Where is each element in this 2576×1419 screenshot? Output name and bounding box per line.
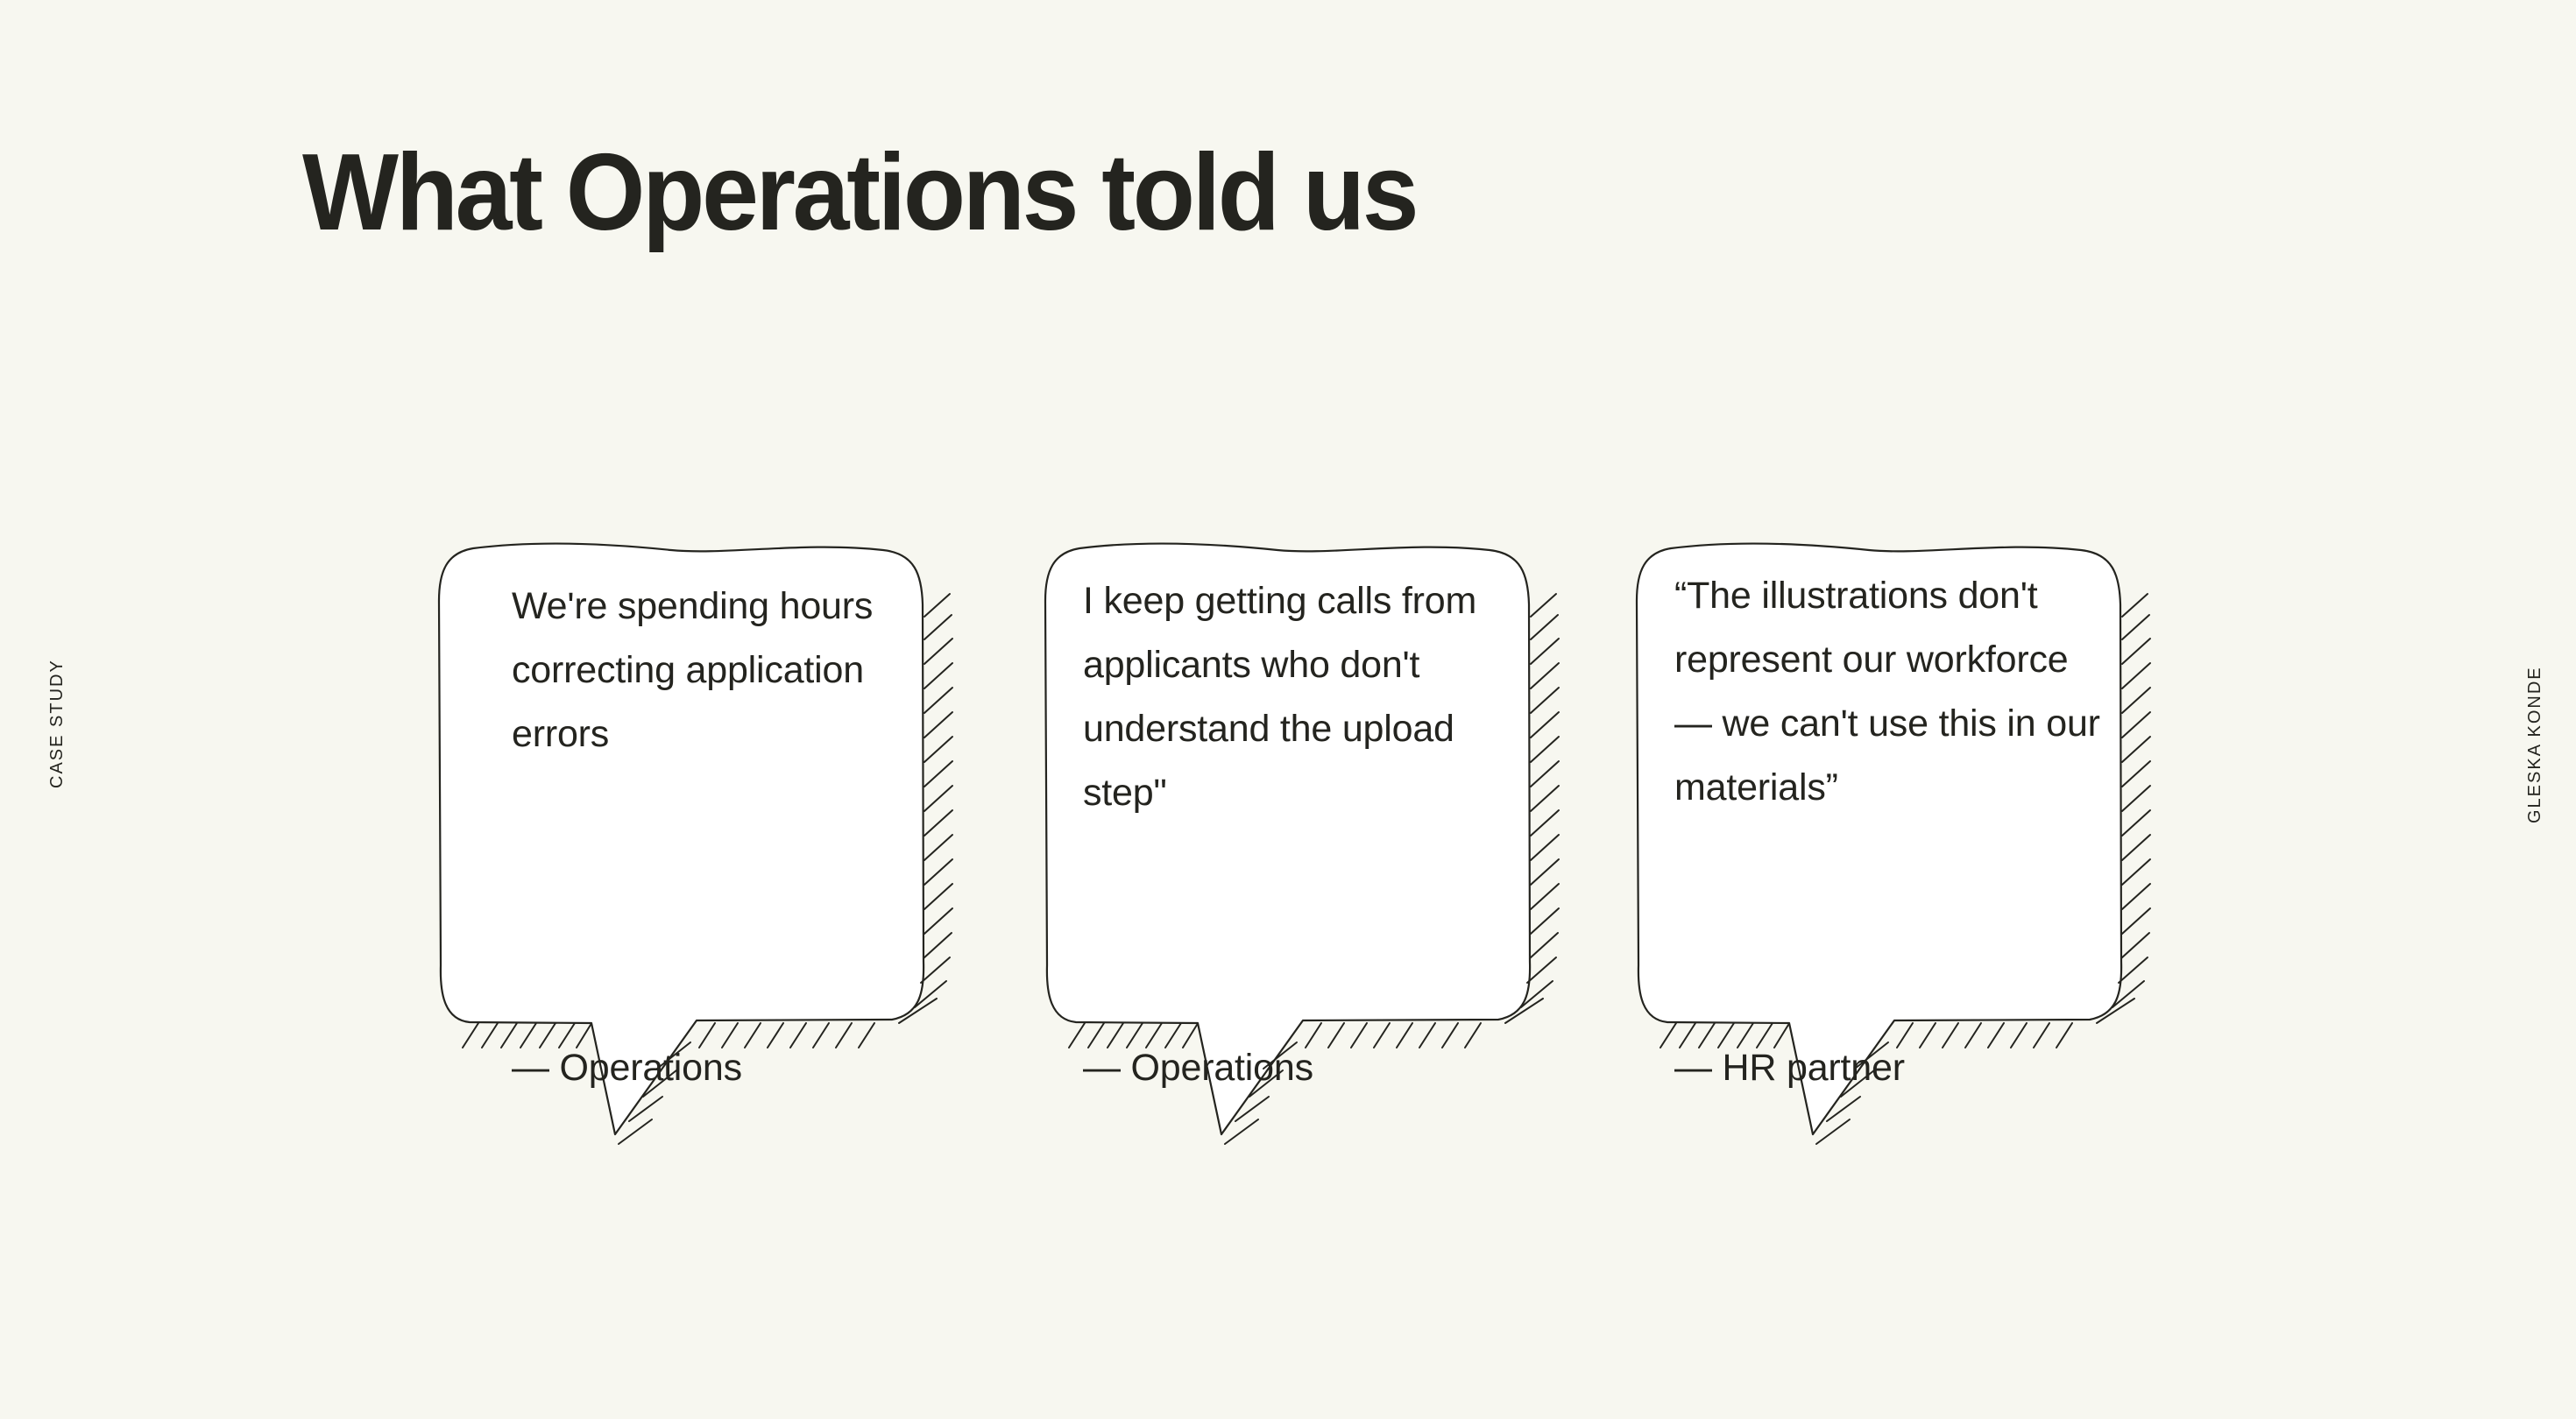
page-title: What Operations told us [302, 138, 1416, 247]
quote-body-3: “The illustrations don't represent our w… [1674, 564, 2102, 820]
quote-body-2: I keep getting calls from applicants who… [1083, 569, 1507, 825]
left-vertical-label: CASE STUDY [47, 659, 67, 788]
quote-attribution-2: — Operations [1083, 1047, 1313, 1090]
quote-body-1: We're spending hours correcting applicat… [512, 575, 878, 766]
quote-attribution-1: — Operations [512, 1047, 742, 1090]
quote-text-wrap-2: I keep getting calls from applicants who… [1043, 536, 1533, 1149]
quote-text-wrap-3: “The illustrations don't represent our w… [1634, 536, 2125, 1149]
quote-attribution-3: — HR partner [1674, 1047, 1905, 1090]
quote-text-wrap-1: We're spending hours correcting applicat… [436, 536, 927, 1149]
right-vertical-label: GLESKA KONDE [2525, 666, 2545, 823]
quote-bubble-2[interactable]: I keep getting calls from applicants who… [1043, 536, 1533, 1149]
quote-bubble-1[interactable]: We're spending hours correcting applicat… [436, 536, 927, 1149]
quote-bubble-3[interactable]: “The illustrations don't represent our w… [1634, 536, 2125, 1149]
